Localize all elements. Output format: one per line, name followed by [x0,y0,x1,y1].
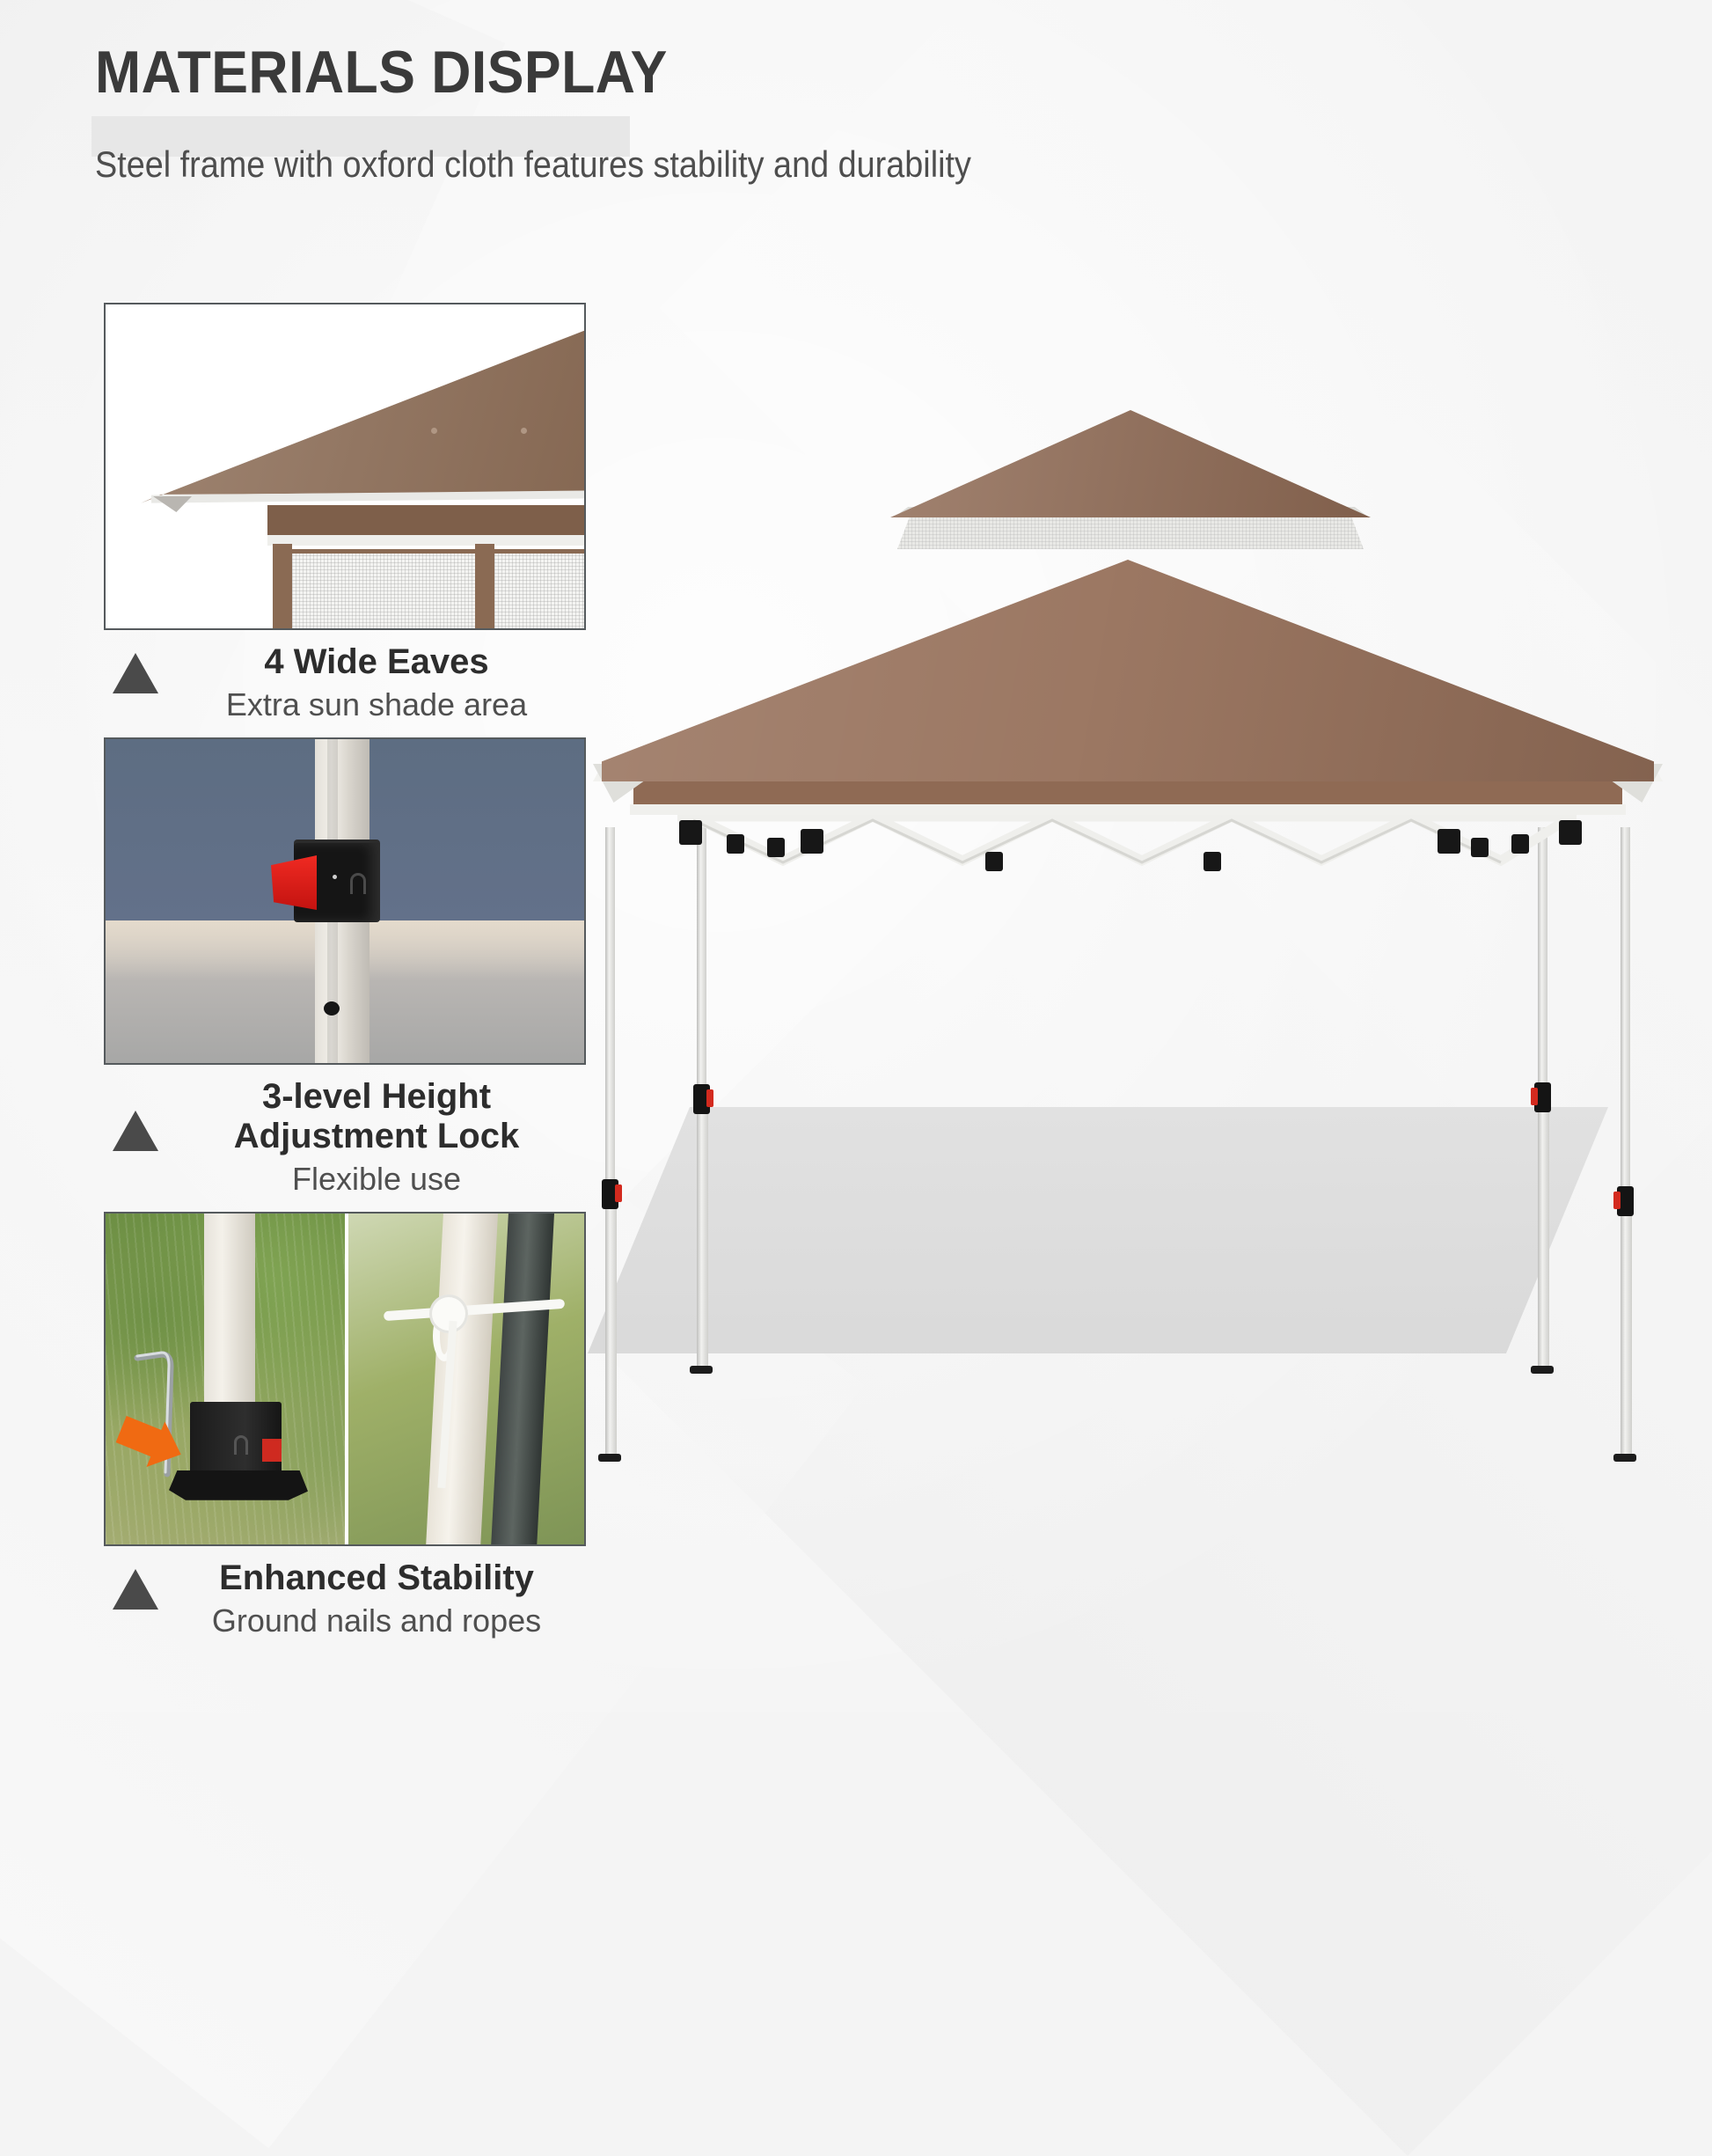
truss-bracket-2 [727,834,744,854]
leg-front-left-upper [605,827,615,1199]
truss-bracket-3 [767,838,785,857]
feature-item-wide-eaves: 4 Wide Eaves Extra sun shade area [104,303,596,732]
eave-post-left [273,544,292,630]
triangle-marker-icon [113,653,158,693]
page-title-wrap: MATERIALS DISPLAY [95,40,717,105]
leg-foot-back-left [690,1366,713,1374]
eave-corner-photo [104,303,586,630]
triangle-marker-icon [113,1111,158,1151]
canopy-valance [633,778,1622,808]
leg-lever-back-left [706,1089,713,1107]
header: MATERIALS DISPLAY Steel frame with oxfor… [95,40,1415,186]
feature-title-2-line2: Adjustment Lock [165,1117,588,1156]
feature-subtitle-1: Extra sun shade area [165,686,588,723]
leg-back-right-lower [1538,1098,1549,1371]
leg-foot-front-right [1613,1454,1636,1462]
product-image-gazebo [545,387,1712,1373]
truss-bracket-1 [679,820,702,845]
foot-red-button [262,1439,282,1462]
feature-title-3: Enhanced Stability [165,1558,588,1598]
feature-caption-1: 4 Wide Eaves Extra sun shade area [104,630,596,732]
page-title: MATERIALS DISPLAY [95,40,668,105]
eave-post-mid [475,544,494,630]
photo-split-divider [345,1214,348,1544]
truss-bracket-6 [1204,852,1221,871]
leg-back-left-lower [697,1098,708,1371]
lock-screw-dot [333,875,337,879]
leg-front-right-lower [1621,1202,1632,1459]
truss-bracket-5 [985,852,1003,871]
eave-mesh-panels [273,544,586,630]
feature-item-stability: Enhanced Stability Ground nails and rope… [104,1212,596,1648]
feature-title-2-line1: 3-level Height [165,1077,588,1117]
ground-stake-half [106,1214,345,1544]
eave-mesh-panel-1 [292,549,475,630]
truss-bracket-7 [1438,829,1460,854]
leg-front-right-upper [1621,827,1630,1206]
foot-u-slot-icon [234,1435,248,1455]
leg-back-left-upper [697,827,706,1102]
leg-lever-front-left [615,1184,622,1202]
truss-bracket-10 [1559,820,1582,845]
feature-subtitle-3: Ground nails and ropes [165,1602,588,1639]
eave-rivet-1 [431,428,437,434]
leg-back-right-upper [1538,827,1547,1102]
canopy-roof-lower-shading [602,560,1654,781]
leg-foot-plate [169,1470,308,1500]
feature-title-1: 4 Wide Eaves [165,642,588,682]
truss-bracket-9 [1511,834,1529,854]
triangle-marker-icon [113,1569,158,1610]
leg-lever-back-right [1531,1088,1538,1105]
feature-caption-2: 3-level Height Adjustment Lock Flexible … [104,1065,596,1206]
lock-pin-hole [324,1001,340,1016]
leg-front-left-lower [605,1195,617,1459]
lock-u-slot-icon [350,873,366,894]
leg-lever-front-right [1613,1192,1621,1209]
feature-item-height-lock: 3-level Height Adjustment Lock Flexible … [104,737,596,1206]
feature-list: 4 Wide Eaves Extra sun shade area 3-leve… [104,303,596,1654]
floor-shadow [588,1107,1608,1353]
truss-bracket-4 [801,829,823,854]
page-subtitle: Steel frame with oxford cloth features s… [95,143,1283,186]
ground-stake-rope-photo [104,1212,586,1546]
leg-foot-back-right [1531,1366,1554,1374]
canopy-roof-upper-shading [890,410,1371,517]
eave-rivet-2 [521,428,527,434]
canopy-vent-mesh-band [897,512,1364,549]
feature-subtitle-2: Flexible use [165,1160,588,1198]
truss-bracket-8 [1471,838,1489,857]
canopy-valance-base-rail [630,804,1626,815]
leg-foot-front-left [598,1454,621,1462]
height-lock-photo [104,737,586,1065]
feature-caption-3: Enhanced Stability Ground nails and rope… [104,1546,596,1648]
